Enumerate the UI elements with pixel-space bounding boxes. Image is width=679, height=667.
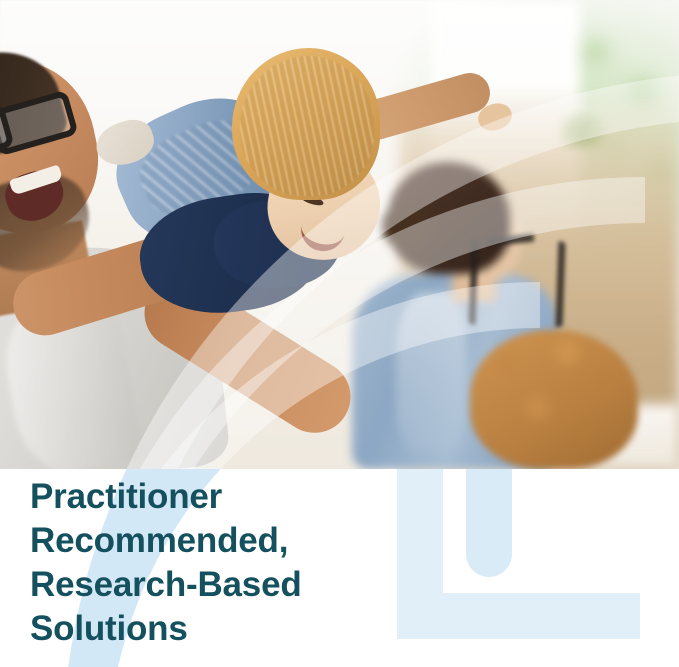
watermark-rounded-bar	[466, 469, 512, 577]
woman-shirt-highlight	[396, 292, 466, 452]
page-title: Practitioner Recommended, Research-Based…	[30, 475, 450, 651]
child-hair-strands	[240, 56, 374, 196]
woman-hair-bun	[382, 202, 430, 250]
photo-background-easel	[469, 238, 566, 327]
photo-subject-curly-child	[470, 330, 640, 469]
hero-photo	[0, 0, 679, 469]
curly-child-hair	[470, 330, 638, 469]
caption-band: Practitioner Recommended, Research-Based…	[0, 469, 679, 667]
hero-card: Practitioner Recommended, Research-Based…	[0, 0, 679, 667]
